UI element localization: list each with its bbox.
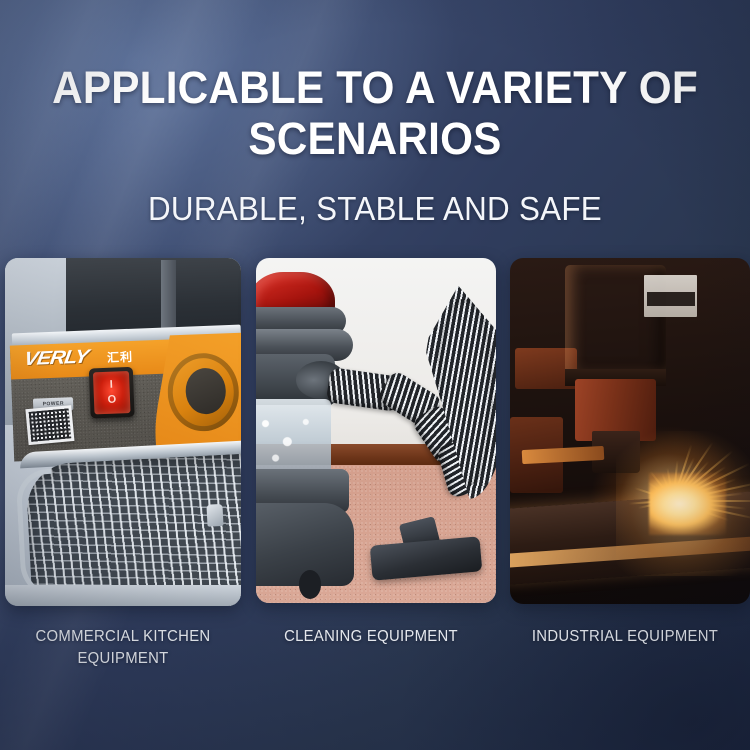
industrial-equipment-photo (510, 258, 750, 604)
verly-brand-logo-cn: 汇利 (107, 348, 134, 366)
cleaning-equipment-photo (256, 258, 496, 603)
cut-point-glow (649, 473, 726, 535)
caption-cleaning: CLEANING EQUIPMENT (256, 626, 486, 648)
caption-industrial: INDUSTRIAL EQUIPMENT (510, 626, 740, 648)
scenario-card-industrial[interactable] (510, 258, 750, 604)
spark-burst (510, 258, 750, 604)
qr-code-sticker (26, 405, 75, 445)
scenario-card-commercial-kitchen[interactable]: VERLY 汇利 POWER (5, 258, 241, 606)
commercial-kitchen-photo: VERLY 汇利 POWER (5, 258, 241, 606)
vacuum-cleaner-body (256, 272, 371, 589)
page-title: APPLICABLE TO A VARIETY OF SCENARIOS (23, 62, 728, 164)
page-subtitle: DURABLE, STABLE AND SAFE (19, 190, 732, 228)
fryer-mesh-basket (19, 440, 241, 606)
card-caption-list: COMMERCIAL KITCHEN EQUIPMENT CLEANING EQ… (0, 626, 750, 686)
verly-brand-logo: VERLY (22, 346, 89, 371)
caption-commercial-kitchen: COMMERCIAL KITCHEN EQUIPMENT (10, 626, 237, 670)
scenario-card-list: VERLY 汇利 POWER (5, 258, 745, 606)
scenario-card-cleaning[interactable] (256, 258, 496, 603)
promo-banner: APPLICABLE TO A VARIETY OF SCENARIOS DUR… (0, 0, 750, 750)
power-rocker-switch (89, 367, 135, 419)
